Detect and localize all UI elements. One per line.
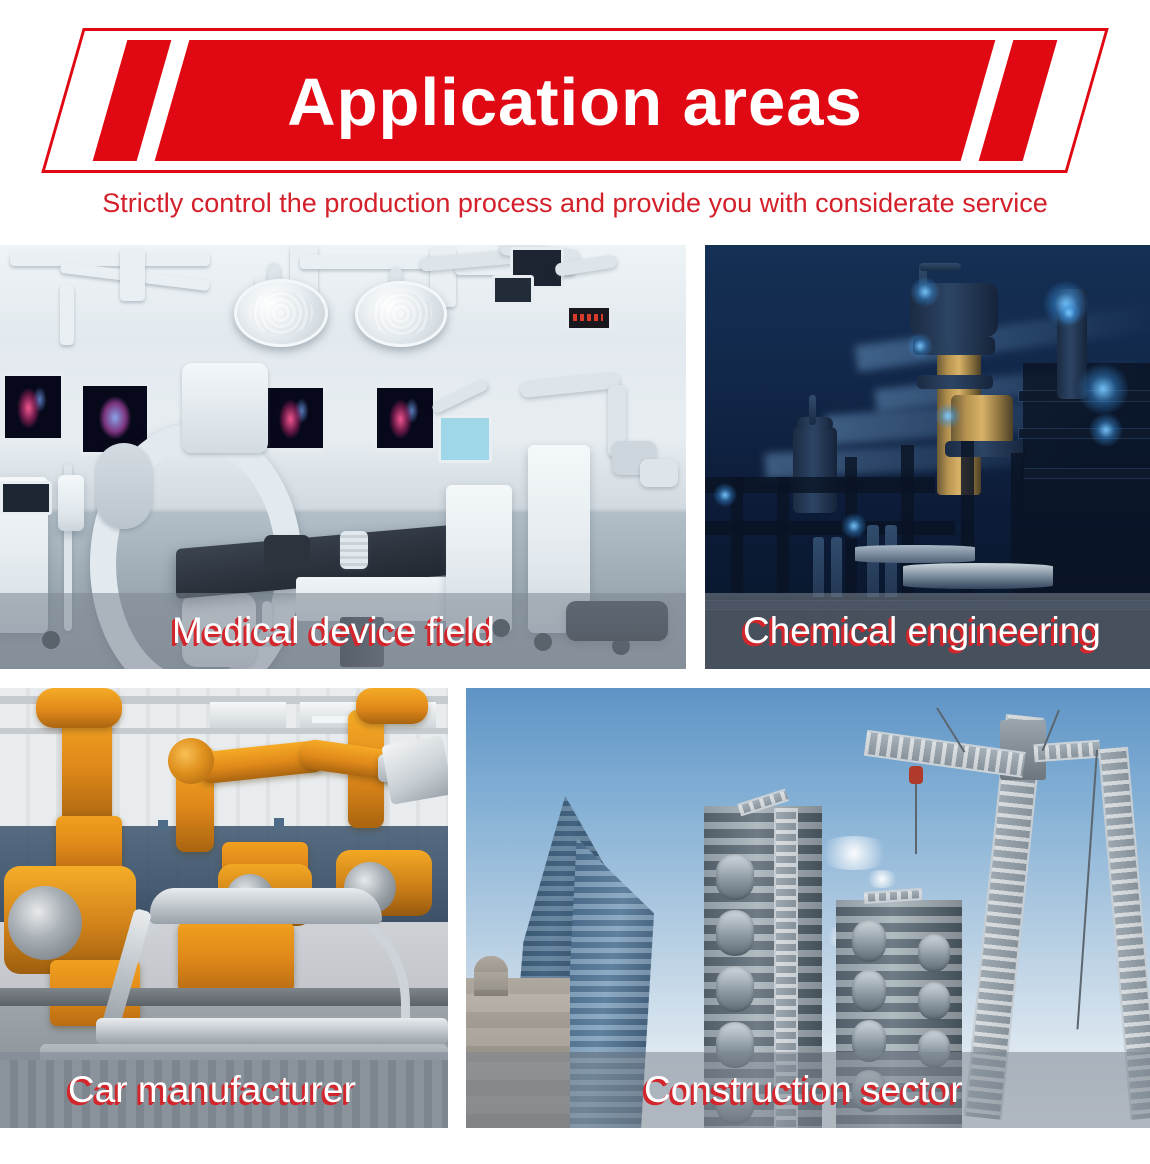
wall-monitor [264, 385, 326, 451]
wall-monitor [2, 373, 64, 441]
card-caption: Car manufacturer [68, 1069, 356, 1111]
light-beam [855, 304, 1150, 371]
secondary-vessel [793, 427, 837, 513]
page-title: Application areas [62, 42, 1088, 163]
heat-exchanger [903, 563, 1053, 589]
service-pod [918, 934, 950, 972]
fence-post [274, 818, 284, 828]
digital-clock [566, 305, 612, 331]
card-caption: Construction sector [644, 1069, 963, 1111]
plant-light [841, 513, 867, 539]
service-pod [918, 982, 950, 1020]
flare-pipe [919, 263, 961, 271]
iv-pump [58, 475, 84, 531]
cloud [864, 870, 900, 888]
application-card-chemical[interactable]: Chemical engineering [705, 245, 1150, 669]
tower-section [951, 395, 1013, 447]
plant-light [713, 483, 737, 507]
microscope-optics [640, 459, 678, 487]
held-sheet-part [381, 735, 448, 805]
pipe-rack-post [1011, 453, 1024, 613]
c-arm-cable [96, 443, 152, 529]
stool [264, 535, 310, 569]
plant-light [935, 403, 961, 429]
robot-shoulder [36, 688, 122, 728]
caption-bar: Medical device field [0, 593, 686, 669]
crane-hoist-cable [1076, 750, 1098, 1029]
car-roof [150, 888, 382, 924]
plant-deck [1019, 469, 1150, 478]
robot-shoulder [356, 688, 428, 724]
plant-light [907, 333, 933, 359]
service-pod [716, 966, 754, 1012]
caption-bar: Chemical engineering [705, 593, 1150, 669]
ceiling-rail [60, 285, 74, 345]
surgical-light [355, 281, 447, 347]
plant-light [1057, 301, 1081, 325]
tower-platform [917, 375, 993, 389]
service-pod [852, 920, 886, 962]
crane-hook [909, 766, 923, 784]
cloud [814, 836, 894, 870]
service-pod [716, 910, 754, 956]
plant-deck [1019, 429, 1150, 438]
card-caption: Medical device field [172, 610, 495, 652]
clerestory-window [210, 702, 286, 728]
application-card-car[interactable]: Car manufacturer [0, 688, 448, 1128]
title-banner: Application areas [62, 28, 1088, 173]
pipe-rack-post [777, 477, 789, 597]
crane-hoist-cable [915, 772, 917, 854]
fence-post [158, 820, 168, 830]
application-card-medical[interactable]: Medical device field [0, 245, 686, 669]
boom-display [492, 275, 534, 305]
service-pod [852, 970, 886, 1012]
cart-display [438, 415, 492, 463]
c-arm-detector [182, 363, 268, 453]
ceiling-rail [10, 253, 210, 266]
ceiling-rail [120, 249, 145, 301]
plant-light [1077, 363, 1129, 415]
page-subtitle: Strictly control the production process … [0, 188, 1150, 219]
microscope-arm [431, 378, 490, 414]
robot-axis-hub [8, 886, 82, 960]
wall-monitor [374, 385, 436, 451]
wall-vent [340, 531, 368, 569]
application-card-construction[interactable]: Construction sector [466, 688, 1150, 1128]
vessel-pipe [809, 395, 816, 425]
surgical-light [234, 279, 328, 347]
page-header: Application areas Strictly control the p… [0, 0, 1150, 238]
caption-bar: Car manufacturer [0, 1052, 448, 1128]
plant-light [1089, 413, 1123, 447]
service-pod [716, 854, 754, 900]
robot-elbow [168, 738, 214, 784]
microscope-boom [519, 372, 620, 398]
caption-bar: Construction sector [466, 1052, 1150, 1128]
historic-building-turret [474, 956, 508, 996]
car-sill [96, 1018, 448, 1044]
card-caption: Chemical engineering [743, 610, 1101, 652]
plant-light [910, 277, 940, 307]
heat-exchanger [855, 545, 975, 563]
anesthesia-display [0, 481, 52, 515]
